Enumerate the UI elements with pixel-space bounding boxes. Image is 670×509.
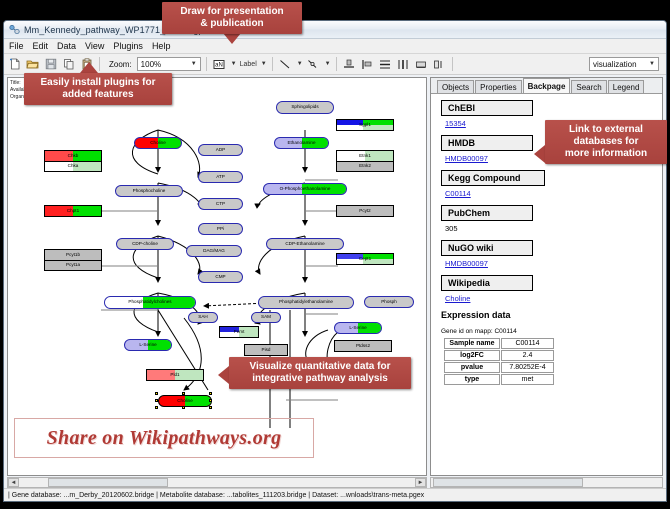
node-label: Phosphatidylethanolamine [279, 300, 333, 305]
node-sgpl1[interactable]: Sgpl1 [336, 119, 394, 131]
node-label: Choline [177, 399, 193, 404]
node-label: Phosph [381, 300, 397, 305]
node-label: Cept1 [359, 257, 371, 262]
db-link-wikipedia[interactable]: Choline [445, 294, 654, 303]
node-label: L-Serine [139, 343, 156, 348]
canvas-horizontal-scrollbar[interactable]: ◄ ► [7, 477, 427, 488]
copy-icon[interactable] [61, 57, 76, 72]
node-label: ATP [216, 175, 225, 180]
node-ppi[interactable]: PPi [198, 223, 243, 235]
expression-value: met [501, 374, 554, 385]
expression-value: C00114 [501, 338, 554, 349]
db-value-pubchem: 305 [445, 224, 654, 233]
node-choline-top[interactable]: Choline [134, 137, 182, 149]
callout-share-wikipathways: Share on Wikipathways.org [14, 418, 314, 458]
callout-draw-for-publication: Draw for presentation & publication [162, 2, 302, 34]
pathway-canvas[interactable]: Title: Availab Organis [7, 77, 427, 476]
menu-bar: File Edit Data View Plugins Help [4, 39, 666, 54]
anchor-line-icon[interactable] [306, 57, 321, 72]
node-phosphatidylethanolamine[interactable]: Phosphatidylethanolamine [258, 296, 354, 309]
node-sah[interactable]: SAH [188, 312, 218, 323]
callout-external-links: Link to external databases for more info… [545, 120, 667, 164]
node-o-phosphoethanolamine[interactable]: O-Phosphoethanolamine [263, 183, 347, 195]
node-label: SAM [261, 315, 271, 320]
share-text: Share on Wikipathways.org [47, 427, 282, 450]
title-bar: Mm_Kennedy_pathway_WP1771_45176.gpml [4, 21, 666, 39]
node-label: Etnk2 [359, 164, 371, 169]
expression-data-title: Expression data [441, 310, 654, 320]
node-label: ADP [216, 148, 225, 153]
table-row: pvalue 7.80252E-4 [444, 362, 554, 373]
node-label: Chpt1 [67, 209, 79, 214]
zoom-combo[interactable]: 100% ▼ [137, 57, 201, 71]
chevron-down-icon[interactable]: ▼ [297, 61, 303, 67]
chevron-down-icon: ▼ [189, 61, 199, 67]
ungroup-icon[interactable] [432, 57, 447, 72]
node-chpt1[interactable]: Chpt1 [44, 205, 102, 217]
callout-line: databases for [551, 136, 661, 148]
resize-handle-nw[interactable] [155, 392, 158, 395]
node-label: Pcyt1b [66, 253, 80, 258]
pathway-canvas-inner: Title: Availab Organis [8, 78, 426, 475]
expression-gene-id: Gene id on mapp: C00114 [441, 328, 654, 335]
resize-handle-s[interactable] [182, 406, 185, 409]
node-label: Ptdss2 [356, 344, 370, 349]
callout-visualize-data: Visualize quantitative data for integrat… [229, 357, 411, 389]
node-label: Phosphocholine [133, 189, 166, 194]
node-label: Phosphatidylcholines [128, 300, 171, 305]
node-label: Chka [68, 164, 79, 169]
resize-handle-e[interactable] [209, 399, 212, 402]
db-header-nugo-wiki: NuGO wiki [441, 240, 533, 256]
callout-install-plugins: Easily install plugins for added feature… [24, 73, 172, 105]
toolbar-separator [272, 57, 273, 71]
table-row: type met [444, 374, 554, 385]
node-ctp[interactable]: CTP [198, 198, 243, 210]
callout-tail-left [534, 145, 545, 163]
chevron-down-icon[interactable]: ▼ [231, 61, 237, 67]
callout-tail-left [218, 366, 229, 384]
menu-item-file[interactable]: File [9, 41, 24, 51]
node-pcyt2[interactable]: Pcyt2 [336, 205, 394, 217]
tab-search[interactable]: Search [571, 80, 606, 93]
node-ethanolamine[interactable]: Ethanolamine [274, 137, 329, 149]
node-etnk1[interactable]: Etnk1 [336, 150, 394, 161]
callout-line: more information [551, 148, 661, 160]
align-left-icon[interactable] [360, 57, 375, 72]
new-document-icon[interactable] [7, 57, 22, 72]
toolbar-separator [206, 57, 207, 71]
node-label: Pcyt1a [66, 263, 80, 268]
expression-key: type [444, 374, 500, 385]
zoom-value: 100% [141, 60, 161, 69]
distribute-horizontal-icon[interactable] [396, 57, 411, 72]
node-label: CDP-Ethanolamine [285, 242, 324, 247]
node-phosph[interactable]: Phosph [364, 296, 414, 308]
expression-table: Sample name C00114 log2FC 2.4 pvalue 7.8… [443, 337, 555, 386]
db-header-chebi: ChEBI [441, 100, 533, 116]
chevron-down-icon: ▼ [647, 61, 657, 67]
node-phosphatidylcholine[interactable]: Phosphatidylcholines [104, 296, 196, 309]
node-label: Sphingolipids [291, 105, 318, 110]
status-text: | Gene database: ...m_Derby_20120602.bri… [8, 492, 424, 499]
tab-objects[interactable]: Objects [437, 80, 474, 93]
node-label: CDP-choline [132, 242, 158, 247]
menu-item-data[interactable]: Data [57, 41, 76, 51]
node-atp[interactable]: ATP [198, 171, 243, 183]
expression-value: 2.4 [501, 350, 554, 361]
tab-properties[interactable]: Properties [475, 80, 521, 93]
callout-line: Visualize quantitative data for [235, 361, 405, 373]
save-icon[interactable] [43, 57, 58, 72]
db-header-kegg-compound: Kegg Compound [441, 170, 545, 186]
resize-handle-sw[interactable] [155, 406, 158, 409]
node-label: SAH [198, 315, 207, 320]
node-label: Etnk1 [359, 154, 371, 159]
table-row: log2FC 2.4 [444, 350, 554, 361]
node-label: Pcyt2 [359, 209, 371, 214]
node-cdp-choline[interactable]: CDP-choline [116, 238, 174, 250]
menu-item-view[interactable]: View [85, 41, 104, 51]
callout-line: integrative pathway analysis [235, 373, 405, 385]
svg-text:aN: aN [215, 62, 223, 68]
expression-value: 7.80252E-4 [501, 362, 554, 373]
callout-line: added features [30, 89, 166, 101]
node-sphingolipids[interactable]: Sphingolipids [276, 101, 334, 114]
db-header-wikipedia: Wikipedia [441, 275, 533, 291]
node-label: L-Serine [349, 326, 366, 331]
db-link-nugo-wiki[interactable]: HMDB00097 [445, 259, 654, 268]
resize-handle-se[interactable] [209, 406, 212, 409]
node-label: Sgpl1 [359, 123, 371, 128]
node-cmp[interactable]: CMP [198, 271, 243, 283]
align-top-icon[interactable] [342, 57, 357, 72]
node-chkb[interactable]: Chkb [44, 150, 102, 161]
toolbar-separator [336, 57, 337, 71]
node-label: Choline [150, 141, 166, 146]
node-pcyt1a[interactable]: Pcyt1a [44, 260, 102, 271]
scroll-right-arrow-icon[interactable]: ► [415, 478, 426, 487]
callout-line: Draw for presentation [168, 6, 296, 18]
node-pcyt1b[interactable]: Pcyt1b [44, 249, 102, 260]
menu-item-edit[interactable]: Edit [33, 41, 49, 51]
line-icon[interactable] [278, 57, 293, 72]
db-link-kegg-compound[interactable]: C00114 [445, 189, 654, 198]
expression-key: pvalue [444, 362, 500, 373]
toolbar-separator [99, 57, 100, 71]
callout-line: Link to external [551, 124, 661, 136]
node-dagmag[interactable]: DAG/MAG [186, 245, 242, 257]
callout-line: Easily install plugins for [30, 77, 166, 89]
node-label: Pisd [262, 348, 271, 353]
node-label: PPi [217, 227, 224, 232]
node-l-serine-left[interactable]: L-Serine [124, 339, 172, 351]
datanode-icon[interactable]: aN [212, 57, 227, 72]
node-choline-selected[interactable]: Choline [158, 395, 212, 407]
node-cept1[interactable]: Cept1 [336, 253, 394, 265]
distribute-vertical-icon[interactable] [378, 57, 393, 72]
label-tool-button[interactable]: Label [240, 61, 257, 68]
menu-item-help[interactable]: Help [152, 41, 171, 51]
scroll-left-arrow-icon[interactable]: ◄ [8, 478, 19, 487]
resize-handle-n[interactable] [182, 392, 185, 395]
expression-key: Sample name [444, 338, 500, 349]
side-panel-horizontal-scrollbar[interactable] [430, 477, 663, 488]
chevron-down-icon[interactable]: ▼ [261, 61, 267, 67]
node-label: CMP [215, 275, 225, 280]
visualization-combo[interactable]: visualization ▼ [589, 57, 659, 71]
callout-tail-up [80, 62, 98, 73]
open-folder-icon[interactable] [25, 57, 40, 72]
side-panel-tabs: Objects Properties Backpage Search Legen… [431, 78, 662, 94]
visualization-value: visualization [593, 60, 637, 69]
resize-handle-ne[interactable] [209, 392, 212, 395]
table-row: Sample name C00114 [444, 338, 554, 349]
resize-handle-w[interactable] [155, 399, 158, 402]
callout-line: & publication [168, 18, 296, 30]
node-adp[interactable]: ADP [198, 144, 243, 156]
pathvisio-app-icon [9, 24, 20, 35]
node-label: Ethanolamine [287, 141, 315, 146]
node-etnk2[interactable]: Etnk2 [336, 161, 394, 172]
status-bar: | Gene database: ...m_Derby_20120602.bri… [4, 488, 666, 501]
db-header-hmdb: HMDB [441, 135, 533, 151]
node-label: Pemt [234, 330, 245, 335]
db-header-pubchem: PubChem [441, 205, 533, 221]
node-label: Pld1 [170, 373, 179, 378]
callout-tail-down [223, 33, 241, 44]
menu-item-plugins[interactable]: Plugins [113, 41, 143, 51]
expression-key: log2FC [444, 350, 500, 361]
node-pisd[interactable]: Pisd [244, 344, 288, 356]
tab-backpage[interactable]: Backpage [523, 78, 571, 93]
scroll-thumb[interactable] [433, 478, 583, 487]
node-phosphocholine[interactable]: Phosphocholine [115, 185, 183, 197]
node-ptdss2[interactable]: Ptdss2 [334, 340, 392, 352]
node-chka[interactable]: Chka [44, 161, 102, 172]
chevron-down-icon[interactable]: ▼ [325, 61, 331, 67]
zoom-label: Zoom: [109, 60, 132, 69]
node-label: Chkb [68, 154, 79, 159]
group-icon[interactable] [414, 57, 429, 72]
tab-legend[interactable]: Legend [608, 80, 645, 93]
toolbar-separator [452, 57, 453, 71]
node-label: DAG/MAG [203, 249, 225, 254]
node-sam[interactable]: SAM [251, 312, 281, 323]
scroll-thumb[interactable] [48, 478, 168, 487]
node-cdp-ethanolamine[interactable]: CDP-Ethanolamine [266, 238, 344, 250]
selected-node-group[interactable]: Choline [154, 391, 216, 411]
node-label: CTP [216, 202, 225, 207]
node-pemt[interactable]: Pemt [219, 326, 259, 338]
node-pld1[interactable]: Pld1 [146, 369, 204, 381]
toolbar: Zoom: 100% ▼ aN ▼ Label ▼ ▼ ▼ [4, 54, 666, 75]
node-label: O-Phosphoethanolamine [280, 187, 331, 192]
node-l-serine-right[interactable]: L-Serine [334, 322, 382, 334]
